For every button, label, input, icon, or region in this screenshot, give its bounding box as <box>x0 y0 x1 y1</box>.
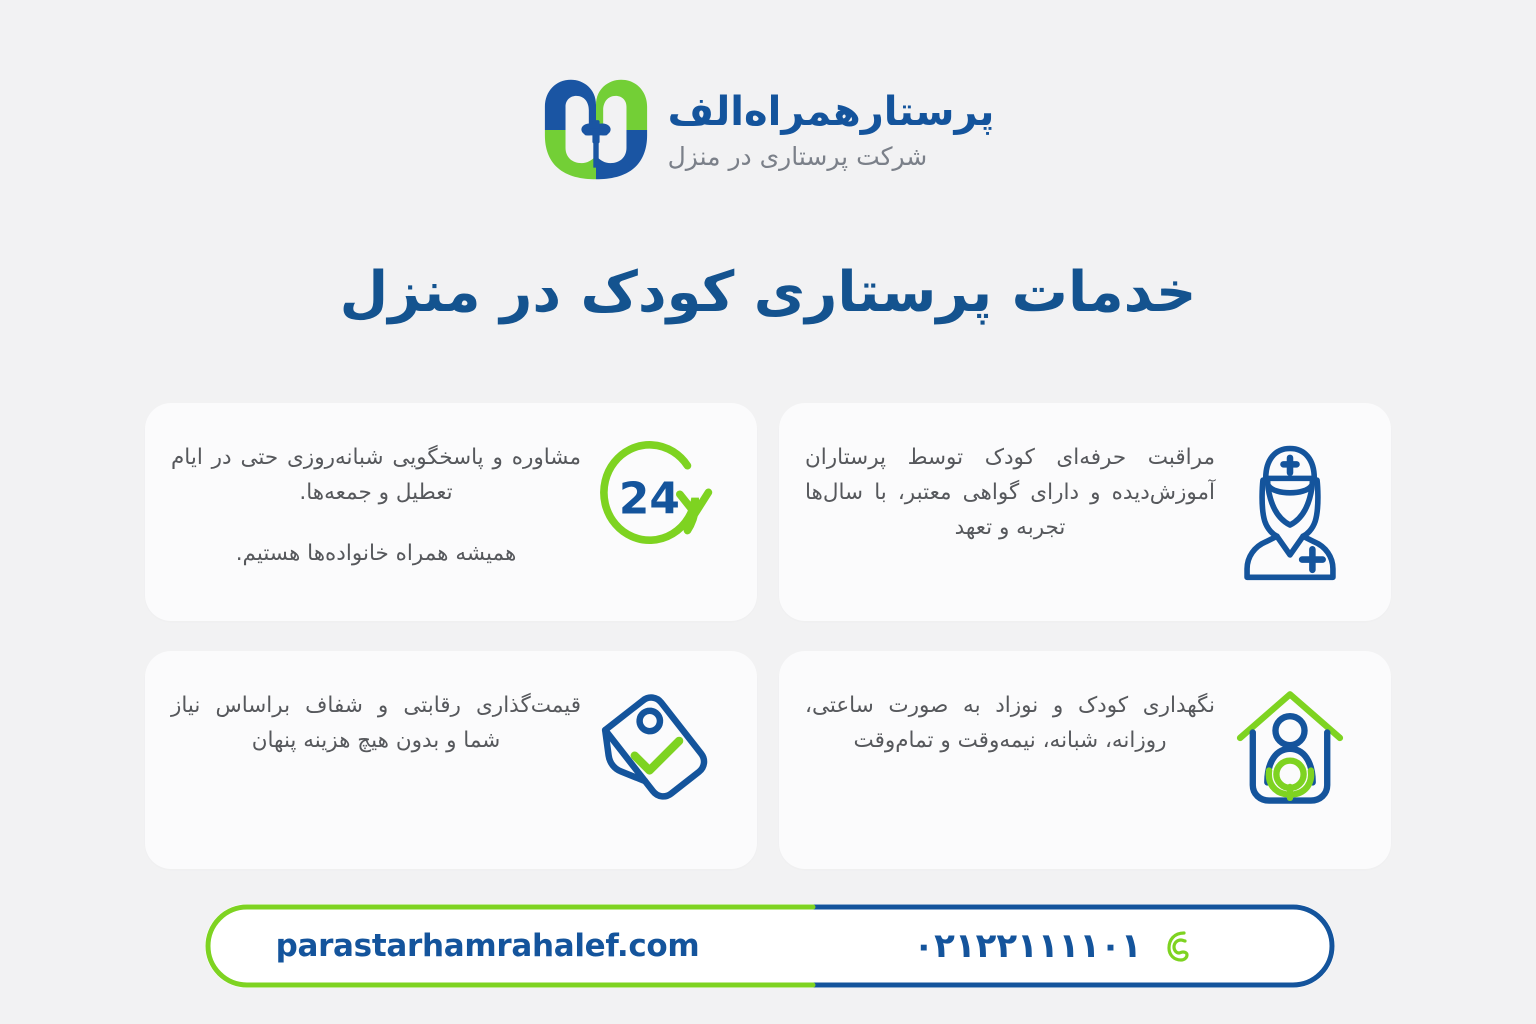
feature-paragraph: مشاوره و پاسخگویی شبانه‌روزی حتی در ایام… <box>171 441 581 511</box>
feature-card-childcare-schedule: نگهداری کودک و نوزاد به صورت ساعتی، روزا… <box>779 651 1391 869</box>
contact-phone-block[interactable]: ۰۲۱۲۲۱۱۱۱۰۱ <box>770 904 1335 988</box>
price-tag-check-icon <box>581 677 731 804</box>
home-mother-child-icon <box>1215 677 1365 807</box>
brand-text-block: پرستارهمراه‌الف شرکت پرستاری در منزل <box>668 92 995 169</box>
website-url[interactable]: parastarhamrahalef.com <box>276 928 700 964</box>
clock-icon-label: 24 <box>619 473 680 524</box>
contact-bar: ۰۲۱۲۲۱۱۱۱۰۱ parastarhamrahalef.com <box>205 904 1335 988</box>
feature-paragraph: نگهداری کودک و نوزاد به صورت ساعتی، روزا… <box>805 689 1215 759</box>
feature-card-text: مراقبت حرفه‌ای کودک توسط پرستاران آموزش‌… <box>799 429 1215 545</box>
phone-number[interactable]: ۰۲۱۲۲۱۱۱۱۰۱ <box>913 926 1141 966</box>
feature-card-transparent-pricing: قیمت‌گذاری رقابتی و شفاف براساس نیاز شما… <box>145 651 757 869</box>
feature-paragraph: قیمت‌گذاری رقابتی و شفاف براساس نیاز شما… <box>171 689 581 759</box>
brand-tagline: شرکت پرستاری در منزل <box>668 144 928 169</box>
feature-card-text: نگهداری کودک و نوزاد به صورت ساعتی، روزا… <box>799 677 1215 759</box>
page-title: خدمات پرستاری کودک در منزل <box>0 260 1536 325</box>
feature-card-24h-support: 24 مشاوره و پاسخگویی شبانه‌روزی حتی در ا… <box>145 403 757 621</box>
nurse-icon <box>1215 429 1365 584</box>
phone-handset-icon <box>1162 929 1192 963</box>
feature-card-text: قیمت‌گذاری رقابتی و شفاف براساس نیاز شما… <box>165 677 581 759</box>
brand-name: پرستارهمراه‌الف <box>668 92 995 132</box>
feature-paragraph-secondary: همیشه همراه خانواده‌ها هستیم. <box>171 537 581 572</box>
feature-card-professional-care: مراقبت حرفه‌ای کودک توسط پرستاران آموزش‌… <box>779 403 1391 621</box>
clock-24-hours-icon: 24 <box>581 429 731 561</box>
contact-website-block[interactable]: parastarhamrahalef.com <box>205 904 770 988</box>
feature-card-text: مشاوره و پاسخگویی شبانه‌روزی حتی در ایام… <box>165 429 581 571</box>
infographic-page: پرستارهمراه‌الف شرکت پرستاری در منزل <box>0 0 1536 1024</box>
heart-hands-medical-cross-logo-icon <box>542 78 650 182</box>
feature-paragraph: مراقبت حرفه‌ای کودک توسط پرستاران آموزش‌… <box>805 441 1215 545</box>
brand-header: پرستارهمراه‌الف شرکت پرستاری در منزل <box>0 78 1536 182</box>
feature-card-grid: مراقبت حرفه‌ای کودک توسط پرستاران آموزش‌… <box>145 403 1391 869</box>
